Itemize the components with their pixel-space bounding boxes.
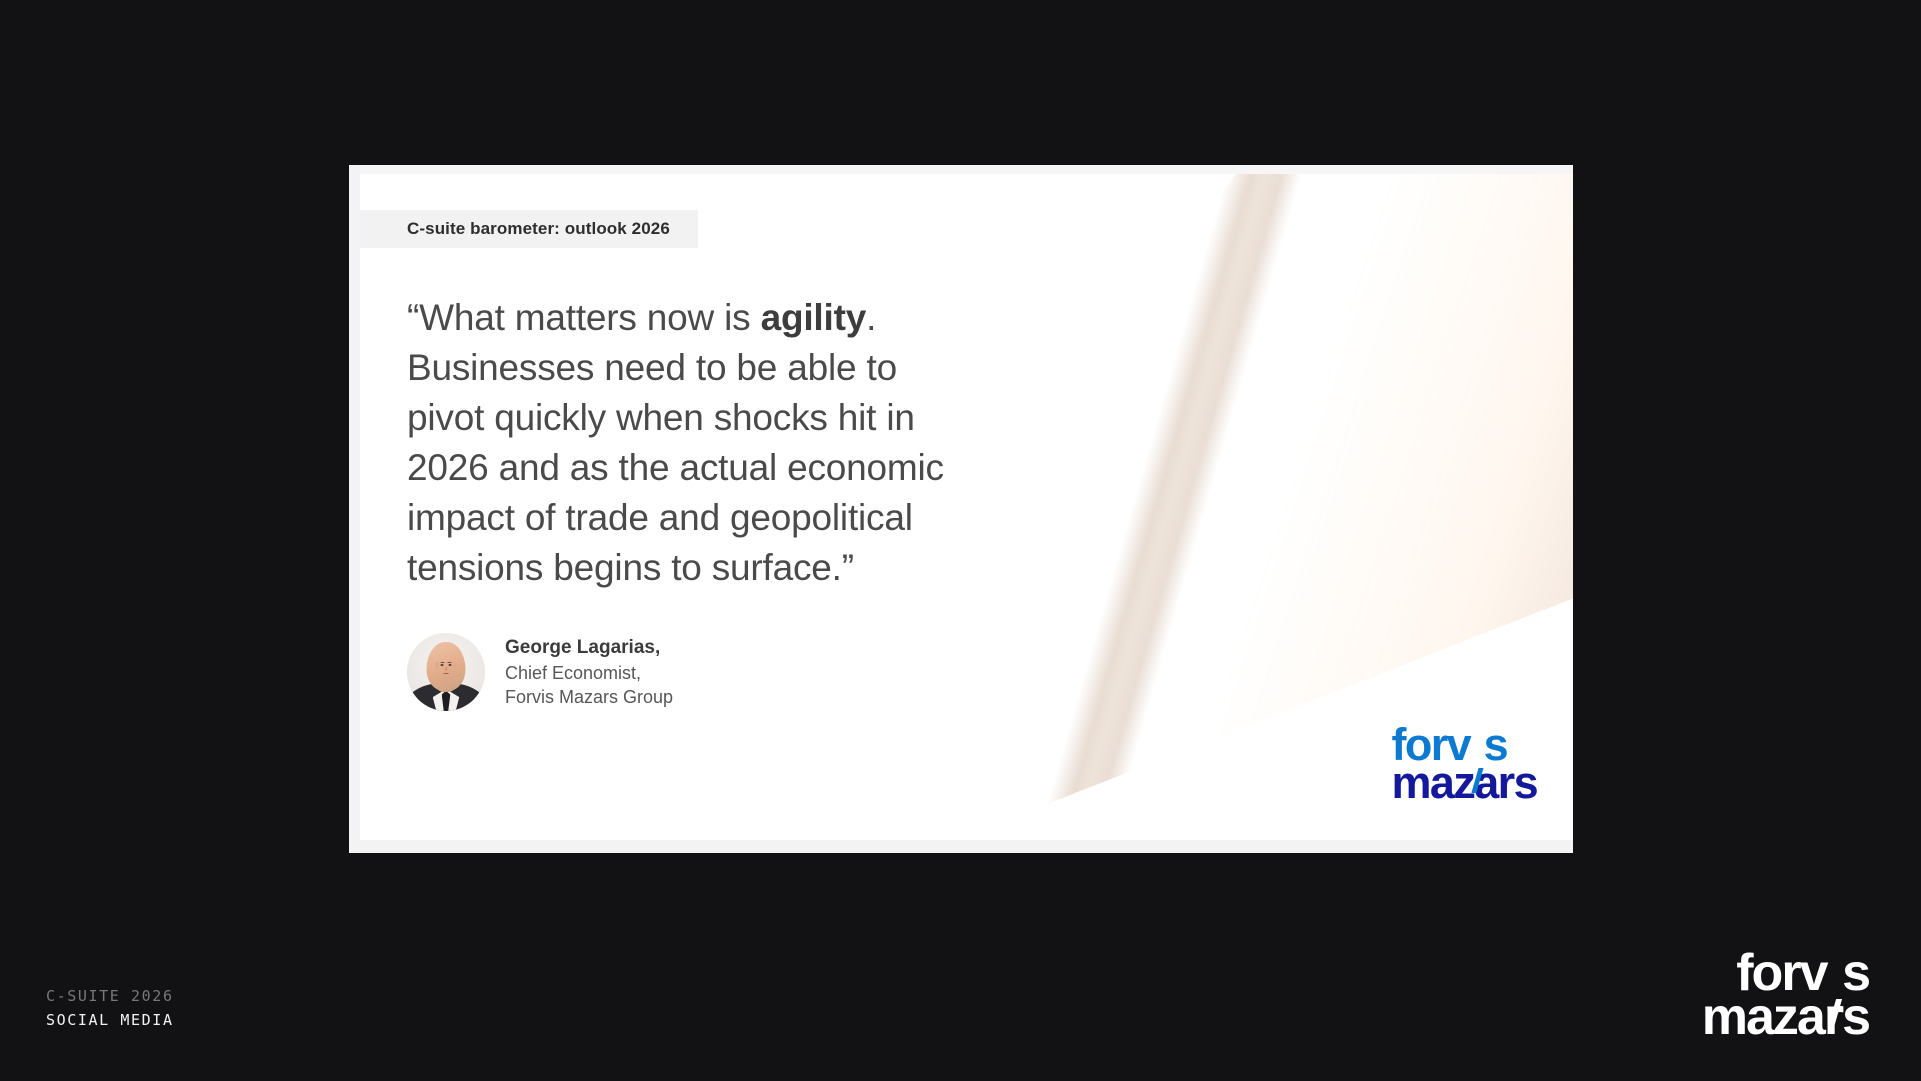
slide-kicker-label: C-suite barometer: outlook 2026 — [360, 210, 698, 248]
page-canvas: C-suite barometer: outlook 2026 “What ma… — [0, 0, 1921, 1081]
slide-forvis-mazars-logo: forvs mazars — [1391, 726, 1537, 803]
corner-meta: C-SUITE 2026 SOCIAL MEDIA — [46, 984, 174, 1034]
attribution-organisation: Forvis Mazars Group — [505, 685, 673, 709]
attribution-name: George Lagarias, — [505, 635, 673, 661]
quote-emphasis-word: agility — [761, 297, 867, 338]
slide-logo-mazars: mazars — [1391, 764, 1537, 803]
quote-lead-text: What matters now is — [419, 297, 760, 338]
avatar — [407, 633, 485, 711]
attribution-text: George Lagarias, Chief Economist, Forvis… — [505, 635, 673, 709]
avatar-brow-left — [441, 662, 445, 663]
avatar-nose — [445, 667, 447, 672]
avatar-mouth — [443, 673, 449, 674]
avatar-ear-left — [435, 662, 438, 669]
page-logo-mazars: mazars — [1702, 995, 1869, 1039]
avatar-eye-left — [441, 664, 444, 666]
avatar-head — [427, 642, 466, 690]
avatar-ear-right — [453, 662, 456, 669]
corner-meta-line-2: SOCIAL MEDIA — [46, 1008, 174, 1033]
corner-meta-line-1: C-SUITE 2026 — [46, 984, 174, 1009]
slide-bottom-strip — [349, 840, 1573, 853]
quote-open-mark: “ — [407, 297, 419, 338]
attribution-role: Chief Economist, — [505, 661, 673, 685]
slide-card: C-suite barometer: outlook 2026 “What ma… — [349, 165, 1573, 853]
page-forvis-mazars-logo: forvs mazars — [1702, 951, 1869, 1039]
quote-rest-text: . Businesses need to be able to pivot qu… — [407, 297, 944, 588]
quote-close-mark: ” — [842, 547, 854, 588]
slide-top-strip — [349, 165, 1573, 174]
avatar-brow-right — [448, 662, 452, 663]
quote-attribution: George Lagarias, Chief Economist, Forvis… — [407, 633, 673, 711]
avatar-eye-right — [448, 664, 451, 666]
slide-left-gutter — [349, 165, 360, 853]
quote-text: “What matters now is agility. Businesses… — [407, 293, 967, 593]
